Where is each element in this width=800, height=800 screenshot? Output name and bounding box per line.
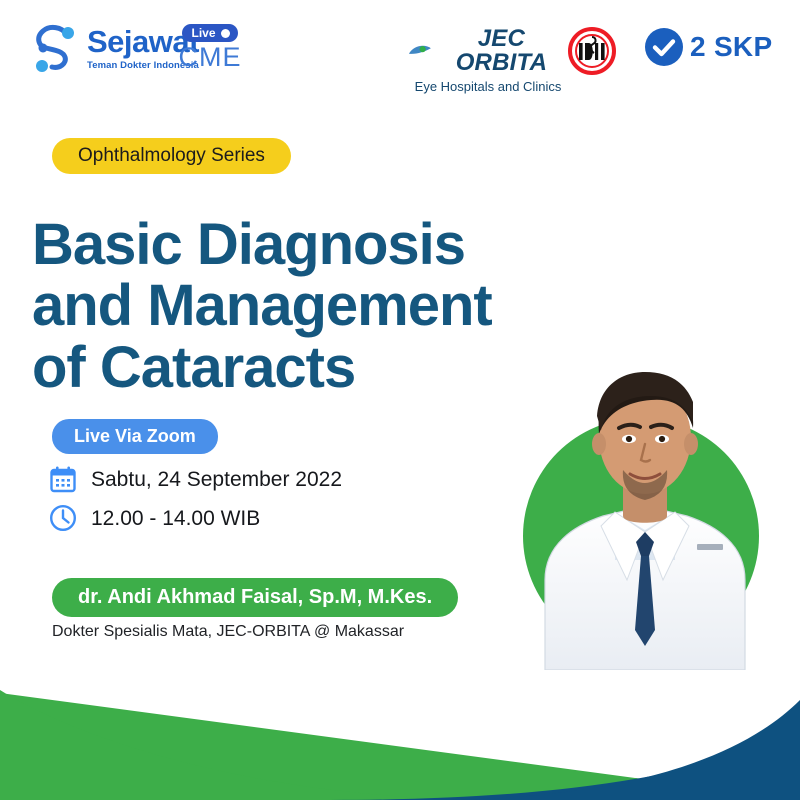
- event-date-row: Sabtu, 24 September 2022: [48, 464, 342, 494]
- live-dot-icon: [221, 29, 230, 38]
- sejawat-s-logo-icon: [30, 22, 78, 74]
- green-wedge: [0, 693, 800, 800]
- title-line-2: and Management: [32, 273, 492, 338]
- navy-wedge: [330, 725, 800, 800]
- event-time-row: 12.00 - 14.00 WIB: [48, 503, 260, 533]
- speaker-affiliation: Dokter Spesialis Mata, JEC-ORBITA @ Maka…: [52, 624, 404, 640]
- speaker-photo: [515, 330, 775, 670]
- green-wedge-2: [0, 690, 500, 800]
- platform-badge: Live Via Zoom: [52, 419, 218, 454]
- live-pill: Live: [182, 24, 237, 42]
- jec-eye-swoosh-icon: [408, 43, 432, 59]
- live-cme-badge: Live CME: [175, 24, 245, 71]
- skp-badge: 2 SKP: [645, 28, 772, 66]
- navy-wedge-2: [430, 700, 800, 800]
- event-date: Sabtu, 24 September 2022: [91, 469, 342, 490]
- jec-wordmark: JEC ORBITA: [435, 27, 568, 75]
- sejawat-logo: Sejawat Teman Dokter Indonesia: [30, 22, 199, 74]
- jec-orbita-logo: JEC ORBITA Eye Hospitals and Clinics: [408, 27, 568, 93]
- clock-icon: [48, 503, 78, 533]
- idi-seal-icon: [568, 27, 616, 75]
- check-circle-icon: [645, 28, 683, 66]
- skp-label: 2 SKP: [690, 33, 772, 61]
- speaker-name-badge: dr. Andi Akhmad Faisal, Sp.M, M.Kes.: [52, 578, 458, 617]
- title-line-3: of Cataracts: [32, 335, 355, 400]
- speaker-portrait: [515, 330, 775, 670]
- calendar-icon: [48, 464, 78, 494]
- event-poster: Sejawat Teman Dokter Indonesia Live CME …: [0, 0, 800, 800]
- series-badge: Ophthalmology Series: [52, 138, 291, 174]
- jec-subtitle: Eye Hospitals and Clinics: [408, 80, 568, 93]
- poster-header: Sejawat Teman Dokter Indonesia Live CME …: [0, 0, 800, 100]
- live-label: Live: [191, 27, 215, 39]
- event-time: 12.00 - 14.00 WIB: [91, 508, 260, 529]
- title-line-1: Basic Diagnosis: [32, 212, 465, 277]
- cme-label: CME: [175, 44, 245, 71]
